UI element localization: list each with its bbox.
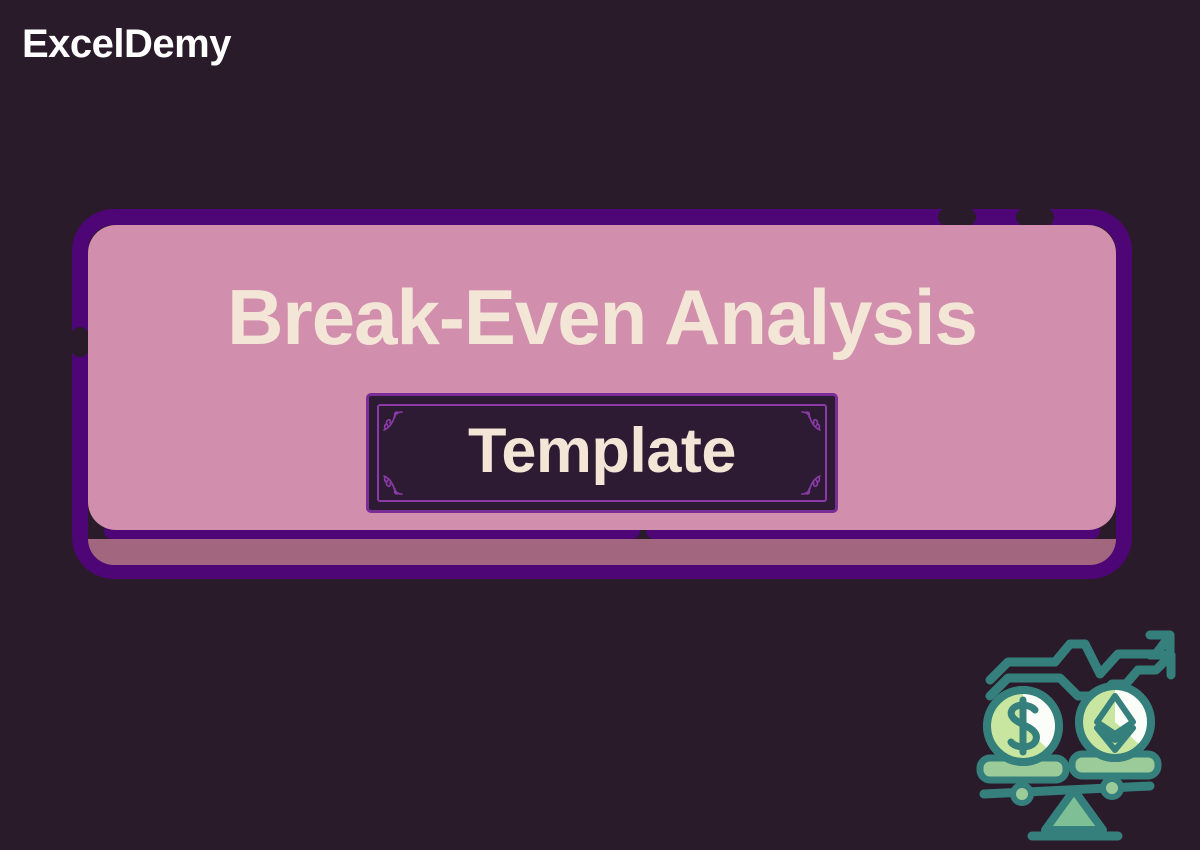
scale-pivot-left: [1013, 785, 1031, 803]
dollar-coin-icon: [987, 690, 1059, 762]
balance-scale-illustration: [960, 618, 1192, 846]
brand-logo: ExcelDemy: [22, 24, 231, 64]
hero-card: Break-Even Analysis: [88, 225, 1116, 530]
ethereum-coin-icon: [1079, 686, 1151, 758]
template-badge: Template: [366, 393, 838, 513]
page-title: Break-Even Analysis: [88, 278, 1116, 356]
hero-banner: Break-Even Analysis: [72, 209, 1132, 579]
scale-pivot-right: [1103, 779, 1121, 797]
hero-base-strip: [88, 539, 1116, 565]
scale-fulcrum: [1045, 790, 1103, 830]
template-badge-label: Template: [369, 420, 835, 483]
